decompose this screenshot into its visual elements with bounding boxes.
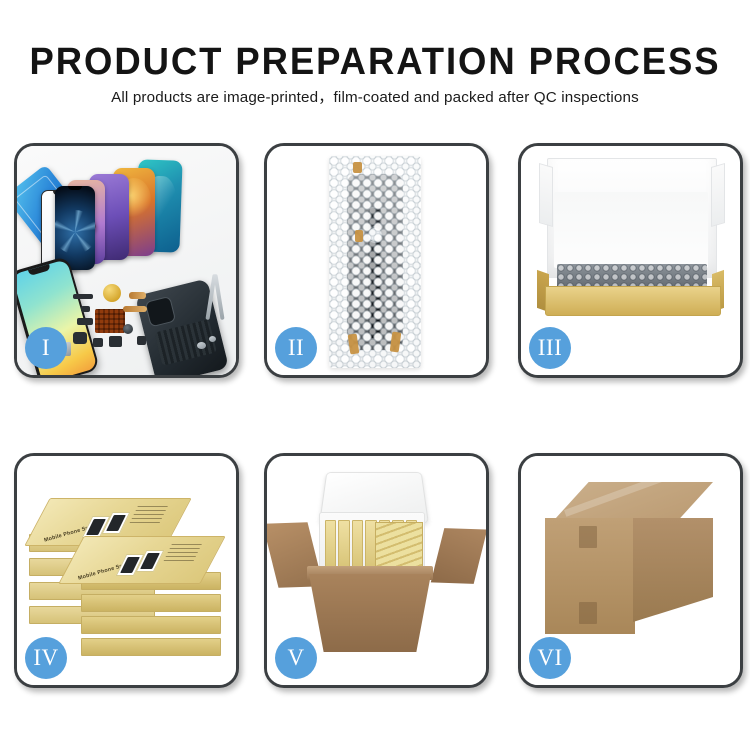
chip-icon <box>93 338 103 347</box>
carton-side-face-icon <box>633 518 713 622</box>
speaker-icon <box>109 336 122 347</box>
step-badge-3: III <box>529 327 571 369</box>
tape-icon <box>579 602 597 624</box>
step-badge-2: II <box>275 327 317 369</box>
process-step-6[interactable]: VI <box>518 453 743 688</box>
step-badge-4: IV <box>25 637 67 679</box>
bubble-texture <box>329 156 421 368</box>
oled-display-icon <box>55 186 95 270</box>
speaker-module-icon <box>103 284 121 302</box>
flex-cable-icon <box>123 306 147 312</box>
process-step-2[interactable]: II <box>264 143 489 378</box>
notch-icon <box>68 186 82 190</box>
display-pattern-icon <box>55 210 95 254</box>
box-edge <box>81 616 221 634</box>
screw-icon <box>197 342 206 349</box>
vibrator-icon <box>73 294 93 299</box>
step-badge-1: I <box>25 327 67 369</box>
tape-icon <box>353 162 362 173</box>
tweezers-icon <box>203 274 229 320</box>
step-badge-5: V <box>275 637 317 679</box>
step-badge-6: VI <box>529 637 571 679</box>
process-step-3[interactable]: III <box>518 143 743 378</box>
box-inner-wall-icon <box>554 192 708 268</box>
box-front-panel-icon <box>545 286 721 316</box>
process-step-5[interactable]: V <box>264 453 489 688</box>
bubble-wrap-bag-icon <box>329 156 421 368</box>
tape-icon <box>355 230 363 242</box>
carton-flap-right-icon <box>431 528 486 584</box>
box-edge <box>81 638 221 656</box>
flex-cable-icon <box>129 292 146 299</box>
logic-board-icon <box>95 309 125 333</box>
process-grid: I II <box>0 0 750 750</box>
screw-icon <box>209 336 216 342</box>
carton-body-icon <box>309 574 431 652</box>
camera-module-icon <box>73 332 87 344</box>
infographic-page: PRODUCT PREPARATION PROCESS All products… <box>0 0 750 750</box>
chip-icon <box>81 306 90 312</box>
connector-icon <box>77 318 93 325</box>
process-step-4[interactable]: Mobile Phone Spare Parts Mobile Phone Sp… <box>14 453 239 688</box>
process-step-1[interactable]: I <box>14 143 239 378</box>
tape-icon <box>579 526 597 548</box>
chip-icon <box>137 336 146 345</box>
packed-boxes-stack-icon <box>375 522 423 570</box>
box-edge <box>81 594 221 612</box>
camera-lens-icon <box>123 324 133 334</box>
